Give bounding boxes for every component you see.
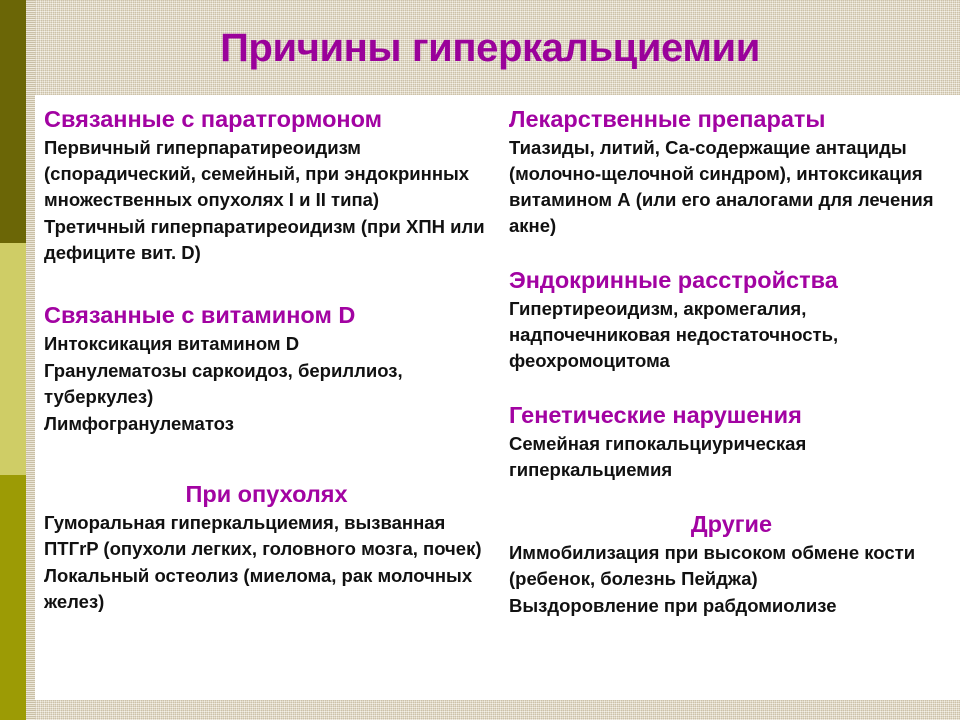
decorative-stripe-middle xyxy=(0,243,26,475)
content-panel: Связанные с паратгормоном Первичный гипе… xyxy=(35,95,960,700)
spacer xyxy=(509,483,954,509)
section-item: Выздоровление при рабдомиолизе xyxy=(509,593,954,619)
slide: Причины гиперкальциемии Связанные с пара… xyxy=(0,0,960,720)
left-column: Связанные с паратгормоном Первичный гипе… xyxy=(35,95,501,700)
section-item: Локальный остеолиз (миелома, рак молочны… xyxy=(44,563,489,615)
section-heading-endocrine: Эндокринные расстройства xyxy=(509,265,954,295)
decorative-stripe-bottom xyxy=(0,475,26,720)
section-heading-parathyroid: Связанные с паратгормоном xyxy=(44,104,489,134)
section-item: Лимфогранулематоз xyxy=(44,411,489,437)
section-item: Гранулематозы саркоидоз, бериллиоз, тубе… xyxy=(44,358,489,410)
decorative-stripe-edge xyxy=(26,0,35,720)
section-item: Тиазиды, литий, Са-содержащие антациды (… xyxy=(509,135,954,239)
spacer xyxy=(509,239,954,265)
section-heading-other: Другие xyxy=(509,509,954,539)
slide-title: Причины гиперкальциемии xyxy=(220,28,760,68)
section-item: Иммобилизация при высоком обмене кости (… xyxy=(509,540,954,592)
section-item: Третичный гиперпаратиреоидизм (при ХПН и… xyxy=(44,214,489,266)
right-column: Лекарственные препараты Тиазиды, литий, … xyxy=(501,95,960,700)
spacer xyxy=(44,437,489,479)
section-heading-drugs: Лекарственные препараты xyxy=(509,104,954,134)
section-item: Гуморальная гиперкальциемия, вызванная П… xyxy=(44,510,489,562)
section-item: Семейная гипокальциурическая гиперкальци… xyxy=(509,431,954,483)
spacer xyxy=(44,266,489,300)
section-heading-vitamin-d: Связанные с витамином D xyxy=(44,300,489,330)
slide-title-bar: Причины гиперкальциемии xyxy=(0,0,960,95)
section-heading-tumors: При опухолях xyxy=(44,479,489,509)
spacer xyxy=(509,374,954,400)
section-heading-genetic: Генетические нарушения xyxy=(509,400,954,430)
section-item: Гипертиреоидизм, акромегалия, надпочечни… xyxy=(509,296,954,374)
section-item: Первичный гиперпаратиреоидизм (спорадиче… xyxy=(44,135,489,213)
section-item: Интоксикация витамином D xyxy=(44,331,489,357)
